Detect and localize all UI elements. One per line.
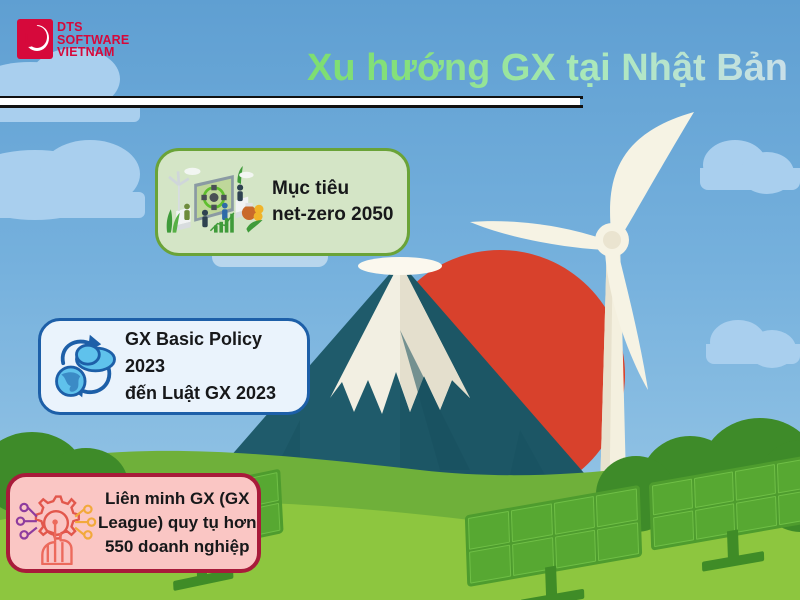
logo-line-3: VIETNAM <box>57 46 129 59</box>
callout-gx-policy[interactable]: GX Basic Policy 2023 đến Luật GX 2023 <box>38 318 310 415</box>
callout-gx-league-line-3: 550 doanh nghiệp <box>98 535 256 559</box>
logo-wordmark: DTS SOFTWARE VIETNAM <box>57 21 129 59</box>
hand-gear-network-icon <box>14 480 98 566</box>
callout-net-zero-line-2: net-zero 2050 <box>272 202 393 228</box>
callout-gx-policy-line-1: GX Basic Policy 2023 <box>125 326 307 380</box>
callout-gx-league-line-2: League) quy tụ hơn <box>98 511 256 535</box>
callout-net-zero[interactable]: Mục tiêu net-zero 2050 <box>155 148 410 256</box>
header-rule <box>0 96 583 108</box>
callout-net-zero-text: Mục tiêu net-zero 2050 <box>272 176 393 228</box>
page-title: Xu hướng GX tại Nhật Bản <box>248 42 788 94</box>
isometric-green-economy-illustration-icon <box>160 156 268 248</box>
cloud-globe-cycle-icon <box>47 327 125 407</box>
callout-gx-league-line-1: Liên minh GX (GX <box>98 487 256 511</box>
callout-gx-league-text: Liên minh GX (GX League) quy tụ hơn 550 … <box>98 487 256 559</box>
callout-gx-league[interactable]: Liên minh GX (GX League) quy tụ hơn 550 … <box>6 473 261 573</box>
logo-line-1: DTS <box>57 21 129 34</box>
callout-net-zero-line-1: Mục tiêu <box>272 176 393 202</box>
infographic-canvas: DTS SOFTWARE VIETNAM Xu hướng GX tại Nhậ… <box>0 0 800 600</box>
callout-gx-policy-line-2: đến Luật GX 2023 <box>125 380 307 407</box>
dts-software-vietnam-logo[interactable]: DTS SOFTWARE VIETNAM <box>17 19 125 67</box>
logo-mark-icon <box>17 19 53 59</box>
crescent-moon-icon <box>25 25 49 51</box>
callout-gx-policy-text: GX Basic Policy 2023 đến Luật GX 2023 <box>125 326 307 407</box>
